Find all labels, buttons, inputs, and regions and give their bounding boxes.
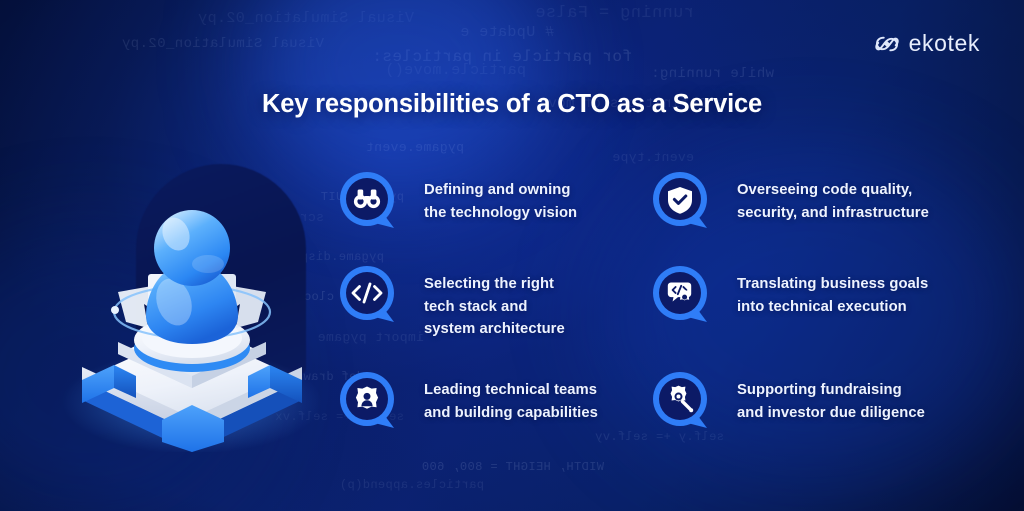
brand-name: ekotek <box>909 30 980 57</box>
background-code-line: for particle in particles: <box>372 48 632 66</box>
text-line: Defining and owning <box>424 179 577 202</box>
responsibility-text: Leading technical teams and building cap… <box>424 368 598 424</box>
background-code-line: # Update e <box>460 24 554 41</box>
text-line: system architecture <box>424 318 565 341</box>
responsibility-item[interactable]: Leading technical teams and building cap… <box>338 368 598 432</box>
binoculars-icon <box>338 170 398 232</box>
text-line: Selecting the right <box>424 273 565 296</box>
text-line: Leading technical teams <box>424 379 598 402</box>
responsibility-item[interactable]: Defining and owning the technology visio… <box>338 168 577 232</box>
responsibility-item[interactable]: Overseeing code quality, security, and i… <box>651 168 929 232</box>
text-line: and investor due diligence <box>737 402 925 425</box>
background-code-line: particle.move() <box>385 62 526 79</box>
text-line: Overseeing code quality, <box>737 179 929 202</box>
code-bubble-gear-icon <box>651 264 711 326</box>
background-code-line: event.type <box>612 150 694 165</box>
text-line: Supporting fundraising <box>737 379 925 402</box>
background-code-line: particles.append(p) <box>340 478 484 492</box>
background-code-line: WIDTH, HEIGHT = 800, 600 <box>422 460 604 474</box>
responsibility-text: Selecting the right tech stack and syste… <box>424 262 565 341</box>
background-code-line: running = False <box>535 4 694 23</box>
page-title: Key responsibilities of a CTO as a Servi… <box>0 90 1024 119</box>
responsibility-text: Translating business goals into technica… <box>737 262 928 318</box>
infographic-canvas: running = False# Update efor particle in… <box>0 0 1024 511</box>
text-line: into technical execution <box>737 296 928 319</box>
team-badge-icon <box>338 370 398 432</box>
background-code-line: Visual Simulation_02.py <box>198 10 414 27</box>
text-line: Translating business goals <box>737 273 928 296</box>
background-code-line: pygame.event <box>366 140 464 155</box>
infinity-knot-icon <box>874 31 900 57</box>
responsibility-item[interactable]: Supporting fundraising and investor due … <box>651 368 925 432</box>
responsibility-text: Overseeing code quality, security, and i… <box>737 168 929 224</box>
code-brackets-icon <box>338 264 398 326</box>
cto-avatar-3d-graphic <box>52 152 332 452</box>
background-code-line: while running: <box>651 66 774 82</box>
brand-logo[interactable]: ekotek <box>874 30 980 57</box>
responsibility-text: Defining and owning the technology visio… <box>424 168 577 224</box>
background-code-line: Visual Simulation_02.py <box>122 36 324 52</box>
hero-illustration <box>52 152 332 452</box>
shield-check-icon <box>651 170 711 232</box>
text-line: security, and infrastructure <box>737 202 929 225</box>
responsibility-text: Supporting fundraising and investor due … <box>737 368 925 424</box>
text-line: the technology vision <box>424 202 577 225</box>
text-line: and building capabilities <box>424 402 598 425</box>
responsibility-item[interactable]: Translating business goals into technica… <box>651 262 928 326</box>
responsibility-item[interactable]: Selecting the right tech stack and syste… <box>338 262 565 341</box>
text-line: tech stack and <box>424 296 565 319</box>
background-code-line: self.y += self.vy <box>595 430 724 444</box>
gear-magnifier-icon <box>651 370 711 432</box>
